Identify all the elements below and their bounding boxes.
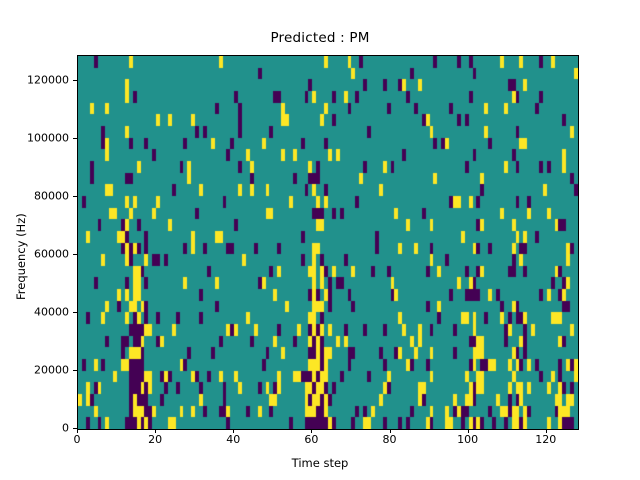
y-tick-mark [73, 312, 77, 313]
x-tick-mark [155, 429, 156, 433]
x-tick-label: 20 [148, 433, 162, 446]
y-axis-label: Frequency (Hz) [14, 213, 28, 300]
x-tick-label: 120 [535, 433, 556, 446]
y-tick-label: 20000 [34, 363, 69, 376]
y-tick-mark [73, 80, 77, 81]
x-tick-mark [390, 429, 391, 433]
heatmap-plot-area [77, 55, 579, 430]
x-tick-mark [77, 429, 78, 433]
y-tick-label: 100000 [27, 131, 69, 144]
y-tick-mark [73, 196, 77, 197]
x-tick-mark [233, 429, 234, 433]
y-tick-label: 40000 [34, 305, 69, 318]
y-tick-mark [73, 138, 77, 139]
y-tick-mark [73, 254, 77, 255]
chart-title: Predicted : PM [0, 30, 640, 46]
y-tick-label: 60000 [34, 247, 69, 260]
y-tick-label: 80000 [34, 189, 69, 202]
y-tick-label: 0 [62, 422, 69, 435]
x-tick-label: 80 [383, 433, 397, 446]
x-tick-mark [546, 429, 547, 433]
figure-canvas: Predicted : PM Frequency (Hz) Time step … [0, 0, 640, 480]
y-tick-mark [73, 370, 77, 371]
x-tick-label: 100 [457, 433, 478, 446]
heatmap-image [78, 56, 578, 429]
y-tick-label: 120000 [27, 73, 69, 86]
x-axis-label: Time step [0, 456, 640, 470]
x-tick-label: 40 [226, 433, 240, 446]
x-tick-mark [468, 429, 469, 433]
x-tick-mark [311, 429, 312, 433]
x-tick-label: 60 [304, 433, 318, 446]
x-tick-label: 0 [74, 433, 81, 446]
